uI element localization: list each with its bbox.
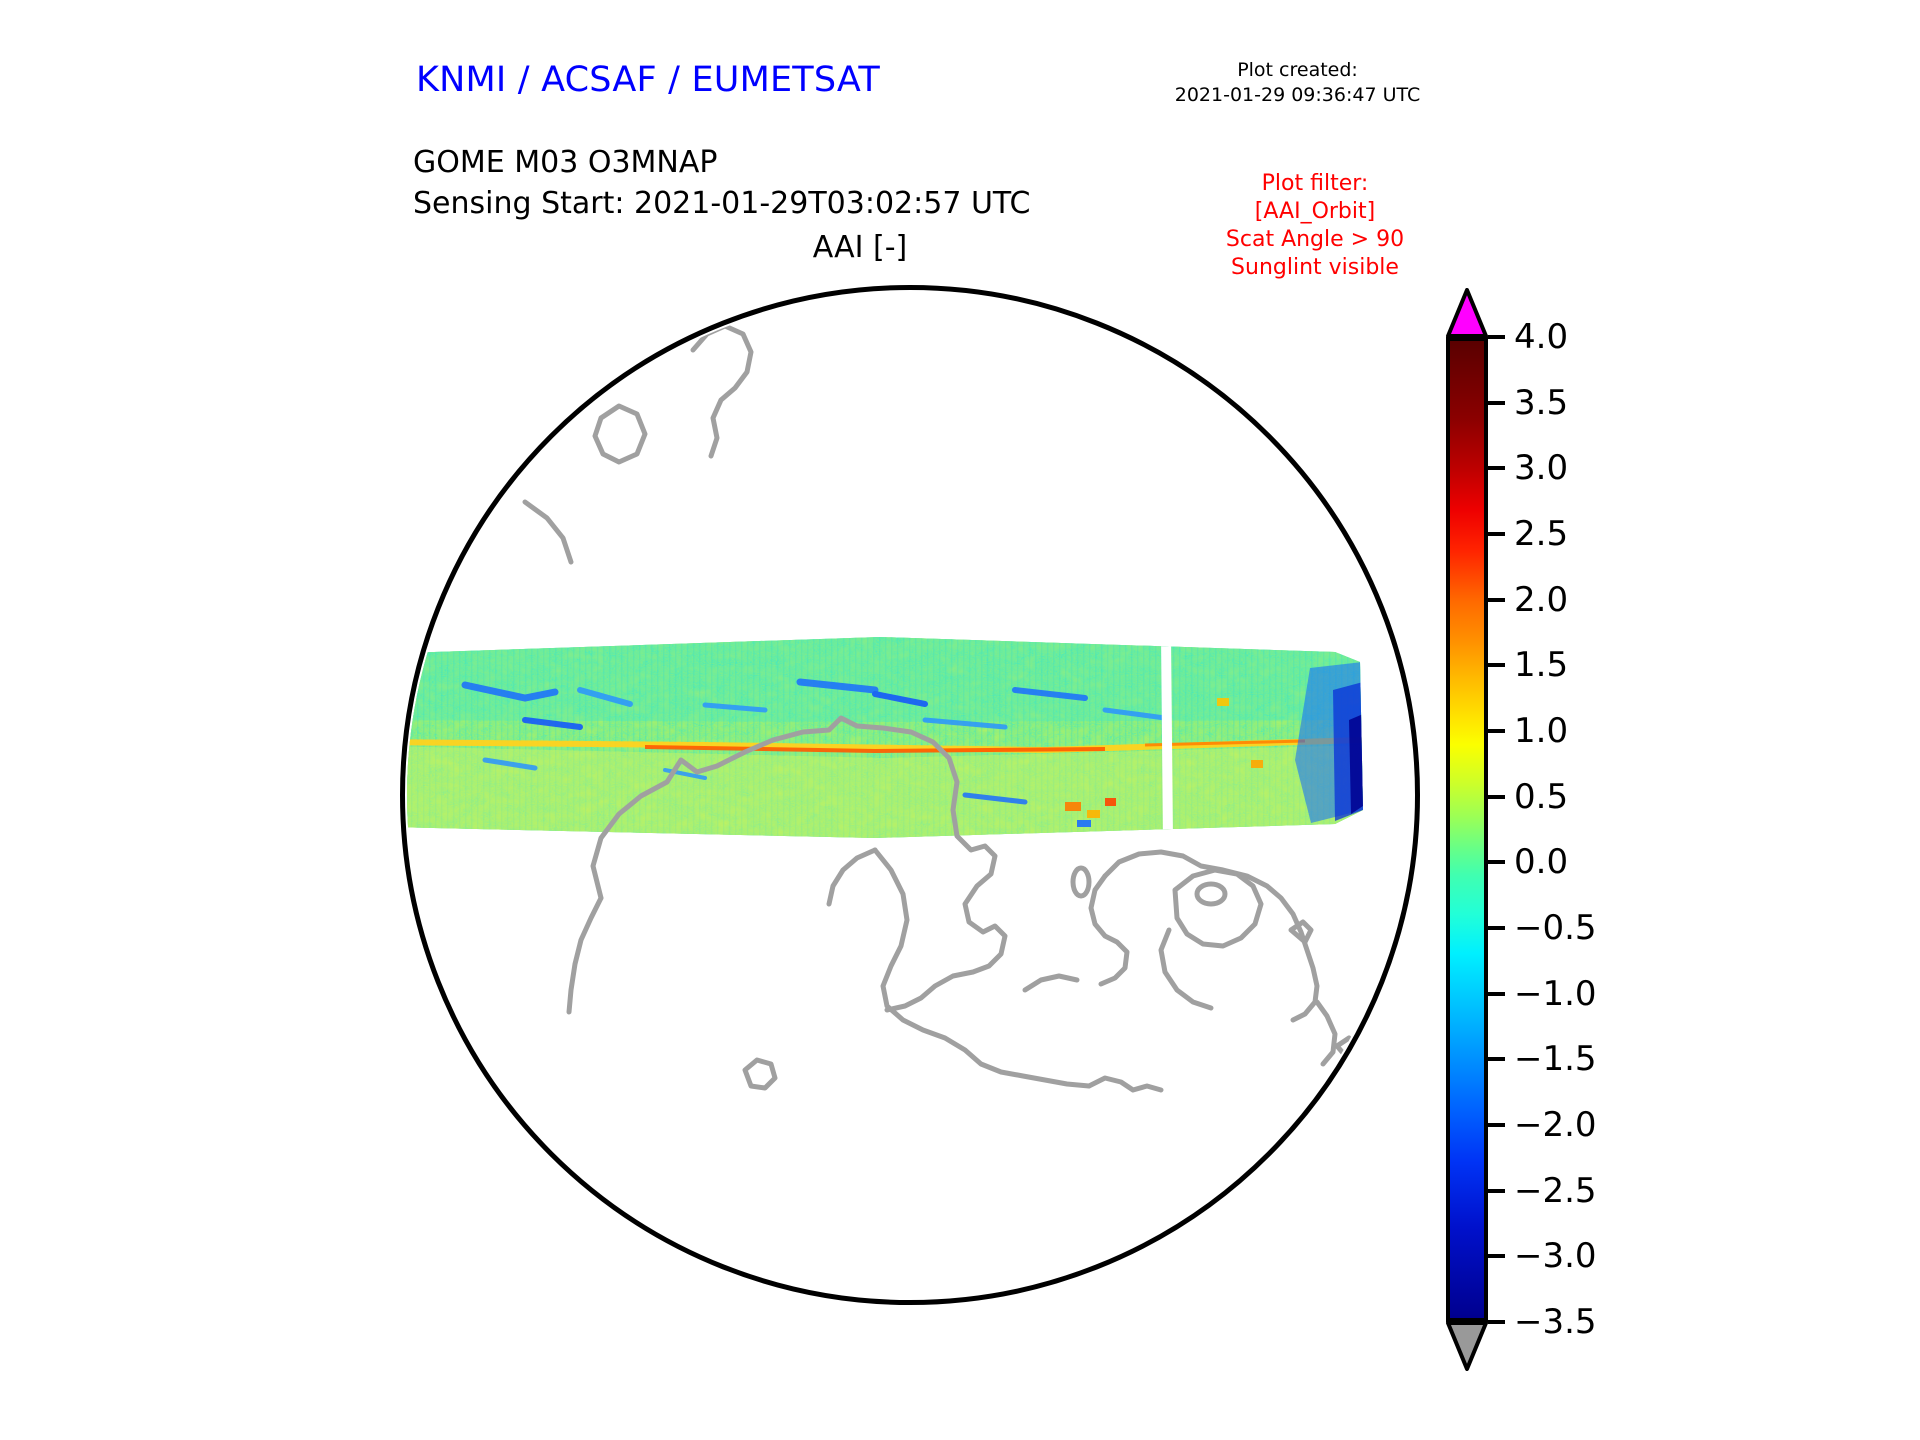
colorbar-tick-label: 0.5 (1514, 777, 1568, 817)
colorbar-tick-label: 4.0 (1514, 317, 1568, 357)
colorbar-over-range-arrow (1446, 288, 1488, 338)
colorbar-tick-label: 2.5 (1514, 514, 1568, 554)
colorbar-tick (1488, 992, 1505, 996)
colorbar-tick-label: −1.5 (1514, 1039, 1597, 1079)
colorbar-tick (1488, 795, 1505, 799)
colorbar: 4.03.53.02.52.01.51.00.50.0−0.5−1.0−1.5−… (1438, 285, 1508, 1285)
map-panel (390, 275, 1430, 1335)
data-swath (405, 620, 1415, 860)
colorbar-scale: 4.03.53.02.52.01.51.00.50.0−0.5−1.0−1.5−… (1446, 337, 1488, 1322)
colorbar-tick-label: −2.0 (1514, 1105, 1597, 1145)
colorbar-tick-label: −3.0 (1514, 1236, 1597, 1276)
globe-contents (405, 290, 1415, 1300)
plot-filter-block: Plot filter: [AAI_Orbit] Scat Angle > 90… (1160, 170, 1470, 282)
globe-graphics (405, 290, 1415, 1300)
colorbar-under-range-arrow (1446, 1321, 1488, 1371)
colorbar-tick (1488, 663, 1505, 667)
colorbar-tick (1488, 1254, 1505, 1258)
plot-created-label: Plot created: (1125, 58, 1470, 83)
colorbar-tick-label: 2.0 (1514, 580, 1568, 620)
colorbar-tick (1488, 1189, 1505, 1193)
colorbar-tick (1488, 532, 1505, 536)
colorbar-tick (1488, 729, 1505, 733)
colorbar-tick-label: −0.5 (1514, 908, 1597, 948)
product-info-block: GOME M03 O3MNAP Sensing Start: 2021-01-2… (413, 142, 1030, 224)
plot-filter-name: [AAI_Orbit] (1160, 198, 1470, 226)
colorbar-tick (1488, 860, 1505, 864)
plot-canvas: KNMI / ACSAF / EUMETSAT Plot created: 20… (0, 0, 1920, 1440)
colorbar-tick (1488, 1320, 1505, 1324)
globe-disc (400, 285, 1420, 1305)
colorbar-tick-label: −3.5 (1514, 1302, 1597, 1342)
colorbar-tick-label: 3.5 (1514, 383, 1568, 423)
plot-created-block: Plot created: 2021-01-29 09:36:47 UTC (1125, 58, 1470, 108)
colorbar-tick-label: 3.0 (1514, 448, 1568, 488)
plot-created-value: 2021-01-29 09:36:47 UTC (1125, 83, 1470, 108)
colorbar-tick (1488, 598, 1505, 602)
colorbar-tick-label: −1.0 (1514, 974, 1597, 1014)
colorbar-tick (1488, 926, 1505, 930)
colorbar-tick-label: 1.0 (1514, 711, 1568, 751)
colorbar-tick-label: −2.5 (1514, 1171, 1597, 1211)
page-title: AAI [-] (650, 230, 1070, 265)
colorbar-tick (1488, 466, 1505, 470)
product-name: GOME M03 O3MNAP (413, 142, 1030, 183)
organisation-credit: KNMI / ACSAF / EUMETSAT (416, 60, 880, 100)
sensing-start: Sensing Start: 2021-01-29T03:02:57 UTC (413, 183, 1030, 224)
colorbar-tick (1488, 401, 1505, 405)
colorbar-tick-label: 1.5 (1514, 645, 1568, 685)
colorbar-gradient (1446, 337, 1488, 1322)
granule-gap (1161, 635, 1173, 842)
colorbar-tick (1488, 1057, 1505, 1061)
colorbar-tick (1488, 335, 1505, 339)
plot-filter-label: Plot filter: (1160, 170, 1470, 198)
plot-filter-scat-angle: Scat Angle > 90 (1160, 226, 1470, 254)
colorbar-tick-label: 0.0 (1514, 842, 1568, 882)
colorbar-tick (1488, 1123, 1505, 1127)
